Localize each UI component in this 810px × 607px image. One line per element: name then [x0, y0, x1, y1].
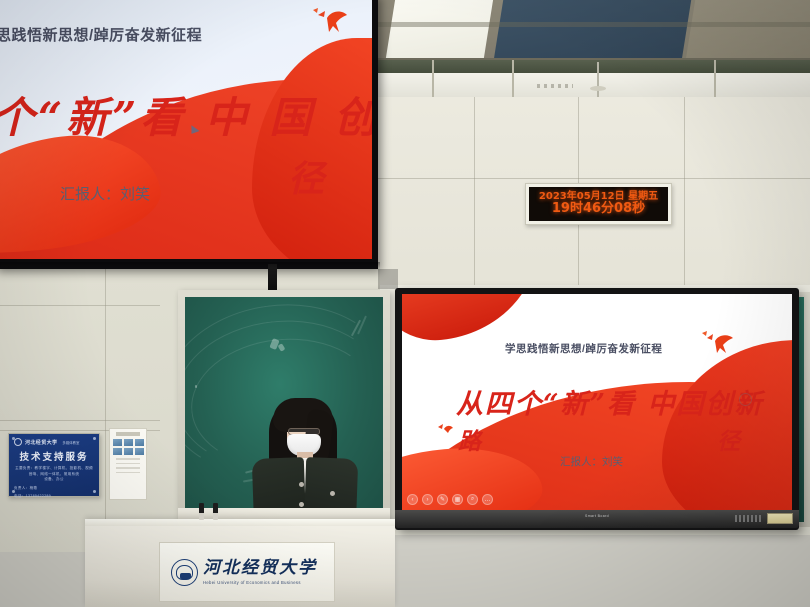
- slide-title-right-char: 径: [717, 422, 740, 456]
- university-name-block: 河北经贸大学 Hebei University of Economics and…: [203, 559, 317, 585]
- led-clock-display: 2023年05月12日 星期五 19时46分08秒: [529, 187, 668, 221]
- university-name-en: Hebei University of Economics and Busine…: [203, 580, 317, 585]
- smart-board-screen[interactable]: 学思践悟新思想/踔厉奋发新征程 从四个: [402, 294, 792, 510]
- sign-heading: 技术支持服务: [14, 449, 94, 463]
- sign-org-name: 河北经贸大学: [25, 439, 57, 446]
- smart-board-badge: [767, 513, 793, 524]
- smart-board-brand-label: Smart Board: [585, 514, 609, 518]
- tech-support-sign: 河北经贸大学 多媒体教室 技术支持服务 主要负责：教学楼宇、计算机、投影机、视频…: [8, 433, 100, 497]
- phoenix-bird-icon: [312, 6, 348, 34]
- tile-seam: [378, 178, 810, 179]
- slide-title-main: 个“新”看 中 国 创 新: [0, 84, 372, 145]
- marker-pen[interactable]: [213, 503, 218, 520]
- wall-rail-light: [378, 73, 810, 97]
- phoenix-bird-icon-small: [436, 422, 454, 436]
- ribbon-shape: [252, 38, 372, 259]
- slide-title-main: 从四个“新”看 中国创新: [456, 382, 763, 421]
- powerpoint-presenter-toolbar[interactable]: ‹ › ✎ ▦ ⌕ …: [407, 494, 493, 505]
- sign-screw: [12, 437, 15, 440]
- tile-seam: [474, 97, 475, 297]
- next-slide-icon[interactable]: ›: [422, 494, 433, 505]
- zoom-icon[interactable]: ⌕: [467, 494, 478, 505]
- watermark-icon: [739, 393, 752, 406]
- marker-pen[interactable]: [199, 503, 204, 520]
- lectern-nameplate: 河北经贸大学 Hebei University of Economics and…: [159, 542, 335, 602]
- sign-line-3: 设备、办公: [14, 477, 94, 483]
- tile-seam: [684, 97, 685, 297]
- projector-hanger-plate: [590, 86, 606, 91]
- lectern: 河北经贸大学 Hebei University of Economics and…: [85, 519, 395, 607]
- sign-screw: [12, 490, 15, 493]
- overhead-projector-screen[interactable]: 思践悟新思想/踔厉奋发新征程 个“新”看 中 国 创 新 径 汇报人：刘笑: [0, 0, 378, 269]
- lectern-top-edge: [85, 519, 395, 526]
- display-drop-shadow: [0, 262, 380, 268]
- tile-seam: [0, 305, 160, 306]
- grid-view-icon[interactable]: ▦: [452, 494, 463, 505]
- slide-header-text: 学思践悟新思想/踔厉奋发新征程: [505, 341, 662, 356]
- tile-seam: [105, 262, 106, 522]
- ribbon-shape: [402, 294, 546, 347]
- projector-screen-surface: 思践悟新思想/踔厉奋发新征程 个“新”看 中 国 创 新 径 汇报人：刘笑: [0, 0, 372, 259]
- rail-seam: [432, 60, 434, 97]
- sign-screw: [93, 490, 96, 493]
- smart-board-bottom-bezel: Smart Board: [395, 510, 799, 528]
- sign-seal-icon: [14, 438, 22, 446]
- slide-title-left-char: 路: [458, 422, 481, 456]
- notice-thumbnails: [112, 439, 144, 455]
- pen-icon[interactable]: ✎: [437, 494, 448, 505]
- previous-slide-icon[interactable]: ‹: [407, 494, 418, 505]
- sign-phone: 电话：13785422289: [14, 494, 94, 499]
- university-seal-icon: [171, 559, 198, 586]
- slide-left: 思践悟新思想/踔厉奋发新征程 个“新”看 中 国 创 新 径 汇报人：刘笑: [0, 0, 372, 259]
- notice-title-bar: [116, 432, 140, 436]
- led-wall-clock: 2023年05月12日 星期五 19时46分08秒: [525, 183, 672, 225]
- jacket-button: [299, 482, 304, 487]
- interactive-smart-board[interactable]: 学思践悟新思想/踔厉奋发新征程 从四个: [395, 288, 799, 530]
- sign-contact-person: 负责人：杨歌: [14, 486, 94, 491]
- slide-presenter-text: 汇报人：刘笑: [60, 183, 150, 204]
- phoenix-bird-icon: [702, 330, 734, 354]
- sign-sub-label: 多媒体教室: [62, 440, 79, 445]
- shadow-gap: [378, 269, 398, 289]
- lecture-hall-scene: 思践悟新思想/踔厉奋发新征程 个“新”看 中 国 创 新 径 汇报人：刘笑: [0, 0, 810, 607]
- ceiling-mount-screws: [537, 84, 573, 88]
- ceiling-beam: [378, 22, 810, 27]
- sign-screw: [93, 437, 96, 440]
- university-name-cn: 河北经贸大学: [203, 559, 317, 578]
- slide-title-tail: 径: [288, 150, 324, 202]
- tile-seam: [0, 420, 160, 421]
- slide-right: 学思践悟新思想/踔厉奋发新征程 从四个: [402, 294, 792, 510]
- wall-notice-poster: [109, 428, 147, 500]
- slide-header-text: 思践悟新思想/踔厉奋发新征程: [0, 24, 202, 45]
- jacket-button: [330, 491, 335, 496]
- jacket-button: [299, 502, 304, 507]
- sign-header-row: 河北经贸大学 多媒体教室: [14, 438, 94, 446]
- more-options-icon[interactable]: …: [482, 494, 493, 505]
- slide-presenter-text: 汇报人：刘笑: [560, 454, 623, 469]
- led-clock-time: 19时46分08秒: [552, 202, 645, 216]
- rail-seam: [714, 60, 716, 97]
- wall-rail-dark: [378, 60, 810, 73]
- rail-seam: [512, 60, 514, 97]
- smart-board-indicator-leds: [735, 515, 761, 522]
- sign-line-1: 主要负责：教学楼宇、计算机、投影机、视频: [14, 466, 94, 472]
